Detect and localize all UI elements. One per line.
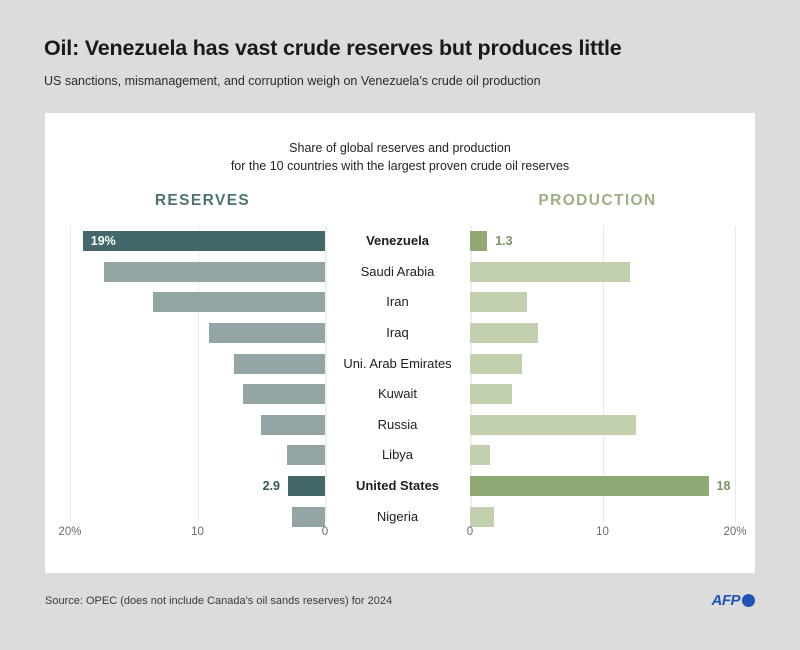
production-bar — [470, 384, 512, 404]
production-value-label: 18 — [717, 476, 731, 496]
chart-row: 19%1.3Venezuela — [45, 226, 755, 257]
reserves-bar — [261, 415, 325, 435]
production-value-label: 1.3 — [495, 231, 512, 251]
production-bar — [470, 476, 709, 496]
chart-row: Iran — [45, 287, 755, 318]
axis-labels: 20%10001020% — [45, 526, 755, 546]
axis-tick-right-0: 0 — [467, 526, 473, 538]
chart-caption: Share of global reserves and production … — [45, 113, 755, 175]
axis-tick-left-0: 0 — [322, 526, 328, 538]
country-label: Kuwait — [325, 383, 470, 405]
reserves-bar — [288, 476, 325, 496]
production-bar — [470, 507, 494, 527]
production-bar — [470, 354, 522, 374]
country-label: Uni. Arab Emirates — [325, 353, 470, 375]
chart-row: Iraq — [45, 318, 755, 349]
afp-logo-dot-icon — [742, 594, 755, 607]
reserves-bar — [153, 292, 325, 312]
reserves-bar — [234, 354, 325, 374]
column-heading-reserves: RESERVES — [45, 192, 400, 210]
country-label: Iraq — [325, 322, 470, 344]
source-note: Source: OPEC (does not include Canada’s … — [45, 595, 392, 607]
chart-row: Uni. Arab Emirates — [45, 349, 755, 380]
axis-tick-left-20: 20% — [58, 526, 81, 538]
footer: Source: OPEC (does not include Canada’s … — [45, 592, 755, 609]
country-label: Nigeria — [325, 506, 470, 528]
axis-tick-right-10: 10 — [596, 526, 609, 538]
chart-row: Libya — [45, 440, 755, 471]
afp-logo-text: AFP — [712, 592, 741, 609]
chart-panel: Share of global reserves and production … — [45, 113, 755, 573]
reserves-value-label: 19% — [83, 231, 116, 251]
country-label: Iran — [325, 291, 470, 313]
chart-caption-line-2: for the 10 countries with the largest pr… — [45, 157, 755, 175]
production-bar — [470, 231, 487, 251]
page-subtitle: US sanctions, mismanagement, and corrupt… — [44, 73, 756, 89]
header: Oil: Venezuela has vast crude reserves b… — [0, 0, 800, 89]
production-bar — [470, 415, 636, 435]
reserves-bar — [104, 262, 325, 282]
reserves-bar — [243, 384, 325, 404]
chart-row: Russia — [45, 410, 755, 441]
afp-logo: AFP — [712, 592, 756, 609]
production-bar — [470, 445, 490, 465]
chart-row: 2.918United States — [45, 471, 755, 502]
column-headings: RESERVES PRODUCTION — [45, 192, 755, 226]
production-bar — [470, 262, 630, 282]
axis-tick-right-20: 20% — [723, 526, 746, 538]
reserves-bar — [292, 507, 325, 527]
reserves-bar — [83, 231, 325, 251]
chart-caption-line-1: Share of global reserves and production — [45, 139, 755, 157]
production-bar — [470, 292, 527, 312]
reserves-bar — [287, 445, 325, 465]
column-heading-production: PRODUCTION — [400, 192, 755, 210]
production-bar — [470, 323, 538, 343]
country-label: Libya — [325, 444, 470, 466]
country-label: Venezuela — [325, 230, 470, 252]
country-label: Saudi Arabia — [325, 261, 470, 283]
axis-tick-left-10: 10 — [191, 526, 204, 538]
chart-row: Kuwait — [45, 379, 755, 410]
reserves-value-label: 2.9 — [248, 476, 280, 496]
chart-row: Saudi Arabia — [45, 257, 755, 288]
reserves-bar — [209, 323, 325, 343]
page-title: Oil: Venezuela has vast crude reserves b… — [44, 36, 756, 62]
bar-rows: 19%1.3VenezuelaSaudi ArabiaIranIraqUni. … — [45, 226, 755, 532]
country-label: Russia — [325, 414, 470, 436]
plot-area: 19%1.3VenezuelaSaudi ArabiaIranIraqUni. … — [45, 226, 755, 566]
country-label: United States — [325, 475, 470, 497]
infographic-root: Oil: Venezuela has vast crude reserves b… — [0, 0, 800, 650]
